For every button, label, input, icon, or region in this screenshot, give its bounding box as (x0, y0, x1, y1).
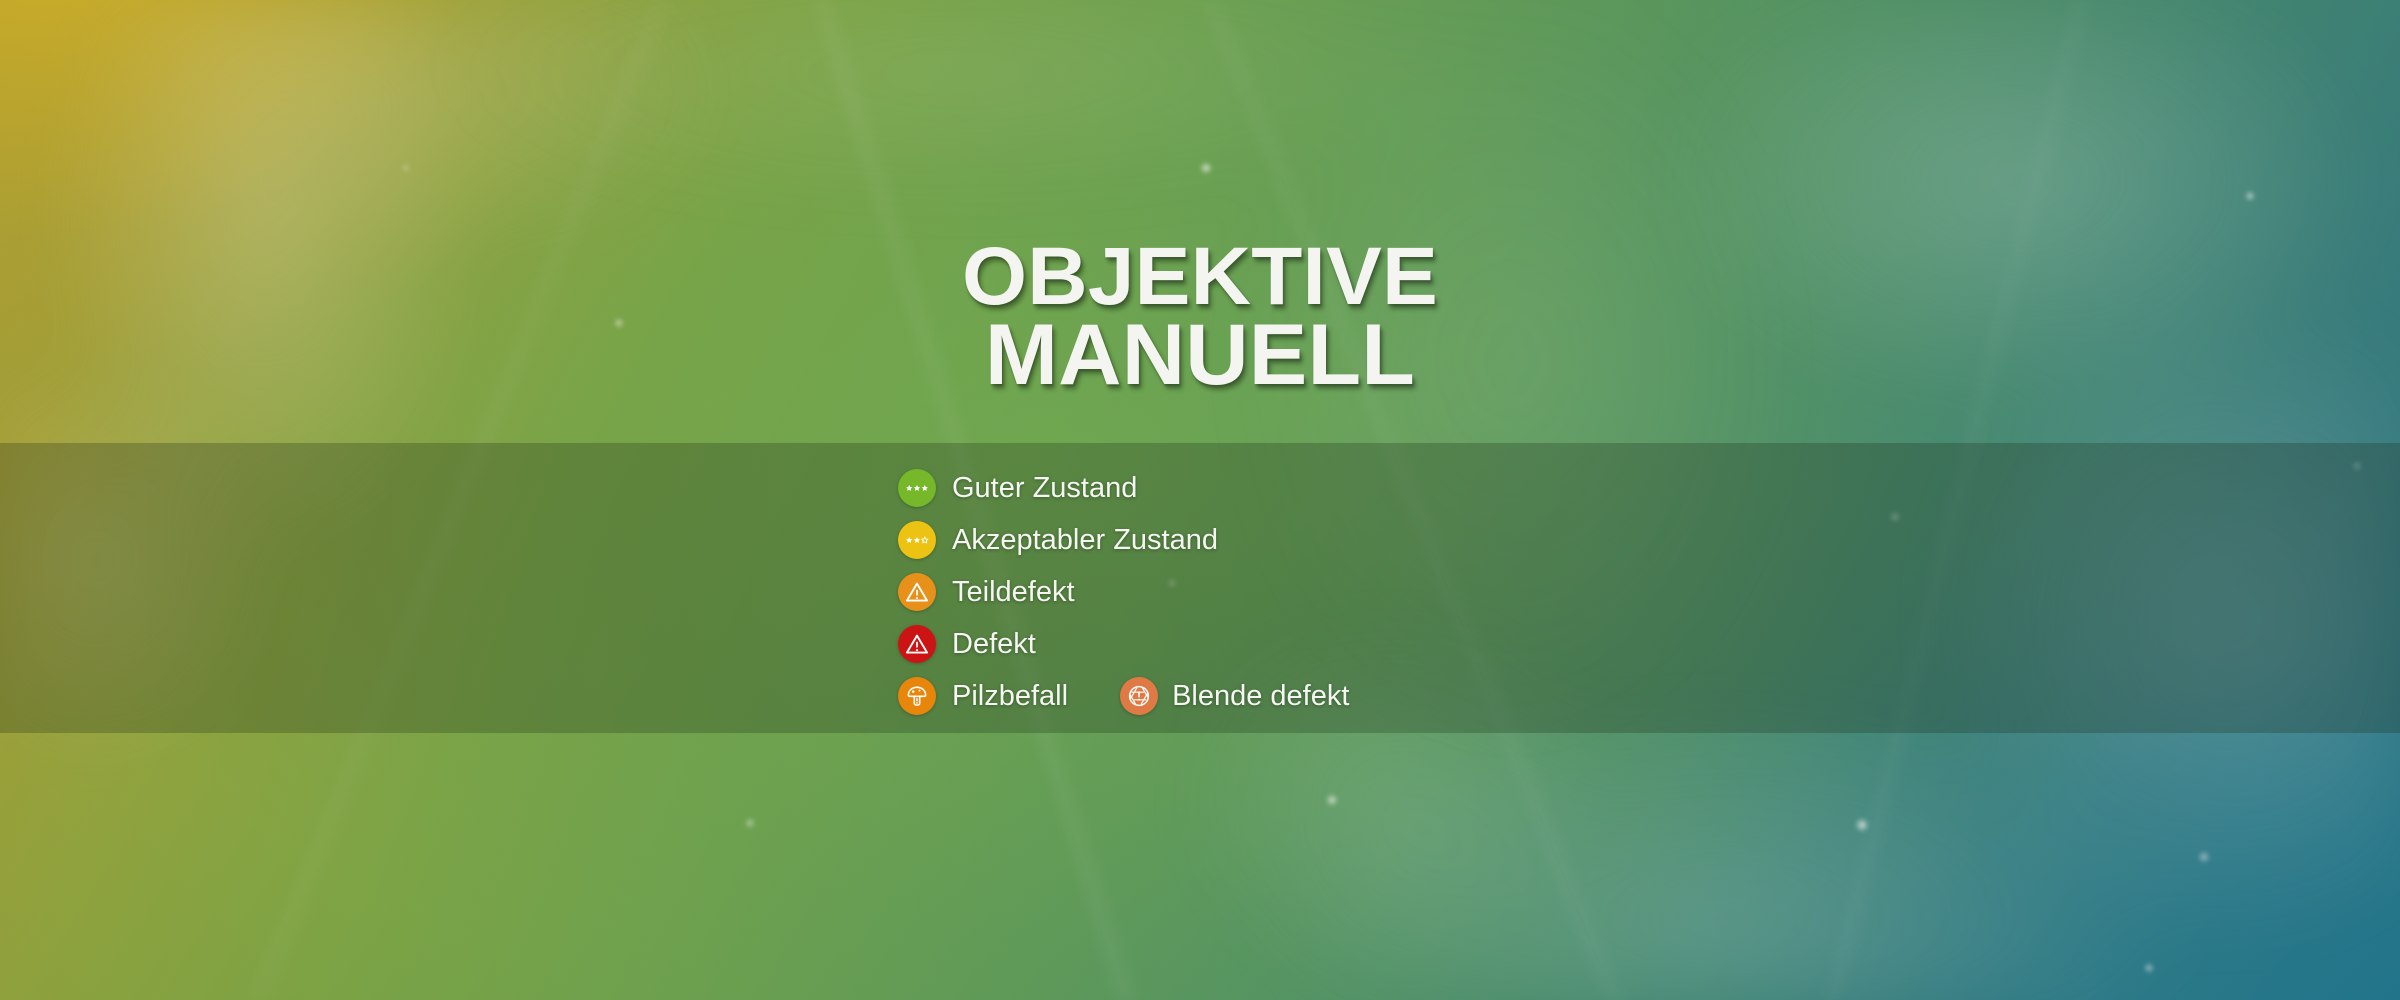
legend-item-teildefekt[interactable]: Teildefekt (898, 573, 1075, 611)
legend-item-blende-defekt[interactable]: Blende defekt (1120, 677, 1349, 715)
title-line-secondary: MANUELL (0, 316, 2400, 394)
legend-item-pilzbefall[interactable]: Pilzbefall (898, 677, 1068, 715)
aperture-alert-icon (1120, 677, 1158, 715)
legend-item-label: Defekt (952, 627, 1036, 661)
mushroom-icon (898, 677, 936, 715)
legend-row: Pilzbefall (898, 670, 1349, 722)
legend-item-label: Pilzbefall (952, 679, 1068, 713)
legend-row: Defekt (898, 618, 1349, 670)
three-stars-icon (898, 469, 936, 507)
page-title: OBJEKTIVE MANUELL (0, 238, 2400, 394)
two-stars-icon (898, 521, 936, 559)
legend-item-defekt[interactable]: Defekt (898, 625, 1036, 663)
legend-row: Akzeptabler Zustand (898, 514, 1349, 566)
legend-item-label: Akzeptabler Zustand (952, 523, 1218, 557)
condition-legend: Guter Zustand Akzeptabler Zustand (898, 462, 1349, 722)
banner-canvas: OBJEKTIVE MANUELL Guter Zustand (0, 0, 2400, 1000)
legend-row: Teildefekt (898, 566, 1349, 618)
legend-row: Guter Zustand (898, 462, 1349, 514)
legend-item-label: Blende defekt (1172, 679, 1349, 713)
legend-item-label: Guter Zustand (952, 471, 1137, 505)
warning-triangle-icon (898, 625, 936, 663)
legend-item-guter-zustand[interactable]: Guter Zustand (898, 469, 1137, 507)
title-line-primary: OBJEKTIVE (0, 238, 2400, 316)
warning-triangle-icon (898, 573, 936, 611)
legend-item-akzeptabler-zustand[interactable]: Akzeptabler Zustand (898, 521, 1218, 559)
legend-item-label: Teildefekt (952, 575, 1075, 609)
